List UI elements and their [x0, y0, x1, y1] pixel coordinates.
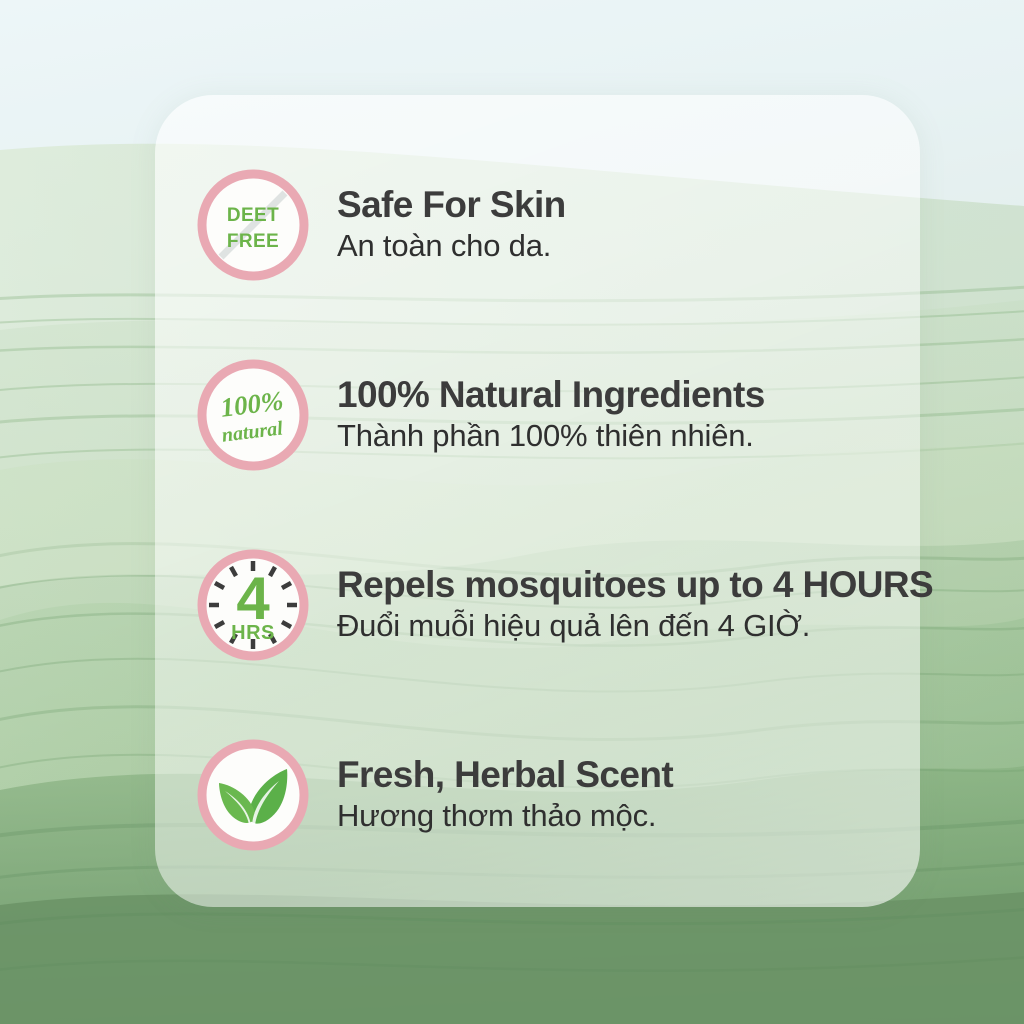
- clock-icon-line2: HRS: [231, 622, 275, 644]
- feature-title: Safe For Skin: [337, 185, 566, 224]
- feature-subtitle: Hương thơm thảo mộc.: [337, 797, 673, 835]
- infographic-canvas: DEET FREE Safe For Skin An toàn cho da. …: [0, 0, 1024, 1024]
- feature-subtitle: An toàn cho da.: [337, 227, 566, 265]
- list-item: DEET FREE Safe For Skin An toàn cho da.: [195, 160, 955, 290]
- feature-list: DEET FREE Safe For Skin An toàn cho da. …: [195, 160, 955, 860]
- list-item: Fresh, Herbal Scent Hương thơm thảo mộc.: [195, 730, 955, 860]
- feature-title: Fresh, Herbal Scent: [337, 755, 673, 794]
- feature-title: Repels mosquitoes up to 4 HOURS: [337, 565, 933, 604]
- hundred-percent-natural-seal-icon: 100% natural: [195, 357, 311, 473]
- deet-free-icon-line1: DEET: [227, 205, 279, 226]
- feature-subtitle: Thành phần 100% thiên nhiên.: [337, 417, 765, 455]
- feature-text-block: Safe For Skin An toàn cho da.: [337, 185, 566, 265]
- feature-text-block: Repels mosquitoes up to 4 HOURS Đuổi muỗ…: [337, 565, 933, 645]
- deet-free-icon-line2: FREE: [227, 231, 279, 252]
- list-item: 100% natural 100% Natural Ingredients Th…: [195, 350, 955, 480]
- list-item: 4 HRS Repels mosquitoes up to 4 HOURS Đu…: [195, 540, 955, 670]
- feature-title: 100% Natural Ingredients: [337, 375, 765, 414]
- deet-free-prohibition-icon: DEET FREE: [195, 167, 311, 283]
- feature-text-block: Fresh, Herbal Scent Hương thơm thảo mộc.: [337, 755, 673, 835]
- two-leaves-icon: [195, 737, 311, 853]
- clock-four-hours-icon: 4 HRS: [195, 547, 311, 663]
- feature-subtitle: Đuổi muỗi hiệu quả lên đến 4 GIỜ.: [337, 607, 933, 645]
- feature-text-block: 100% Natural Ingredients Thành phần 100%…: [337, 375, 765, 455]
